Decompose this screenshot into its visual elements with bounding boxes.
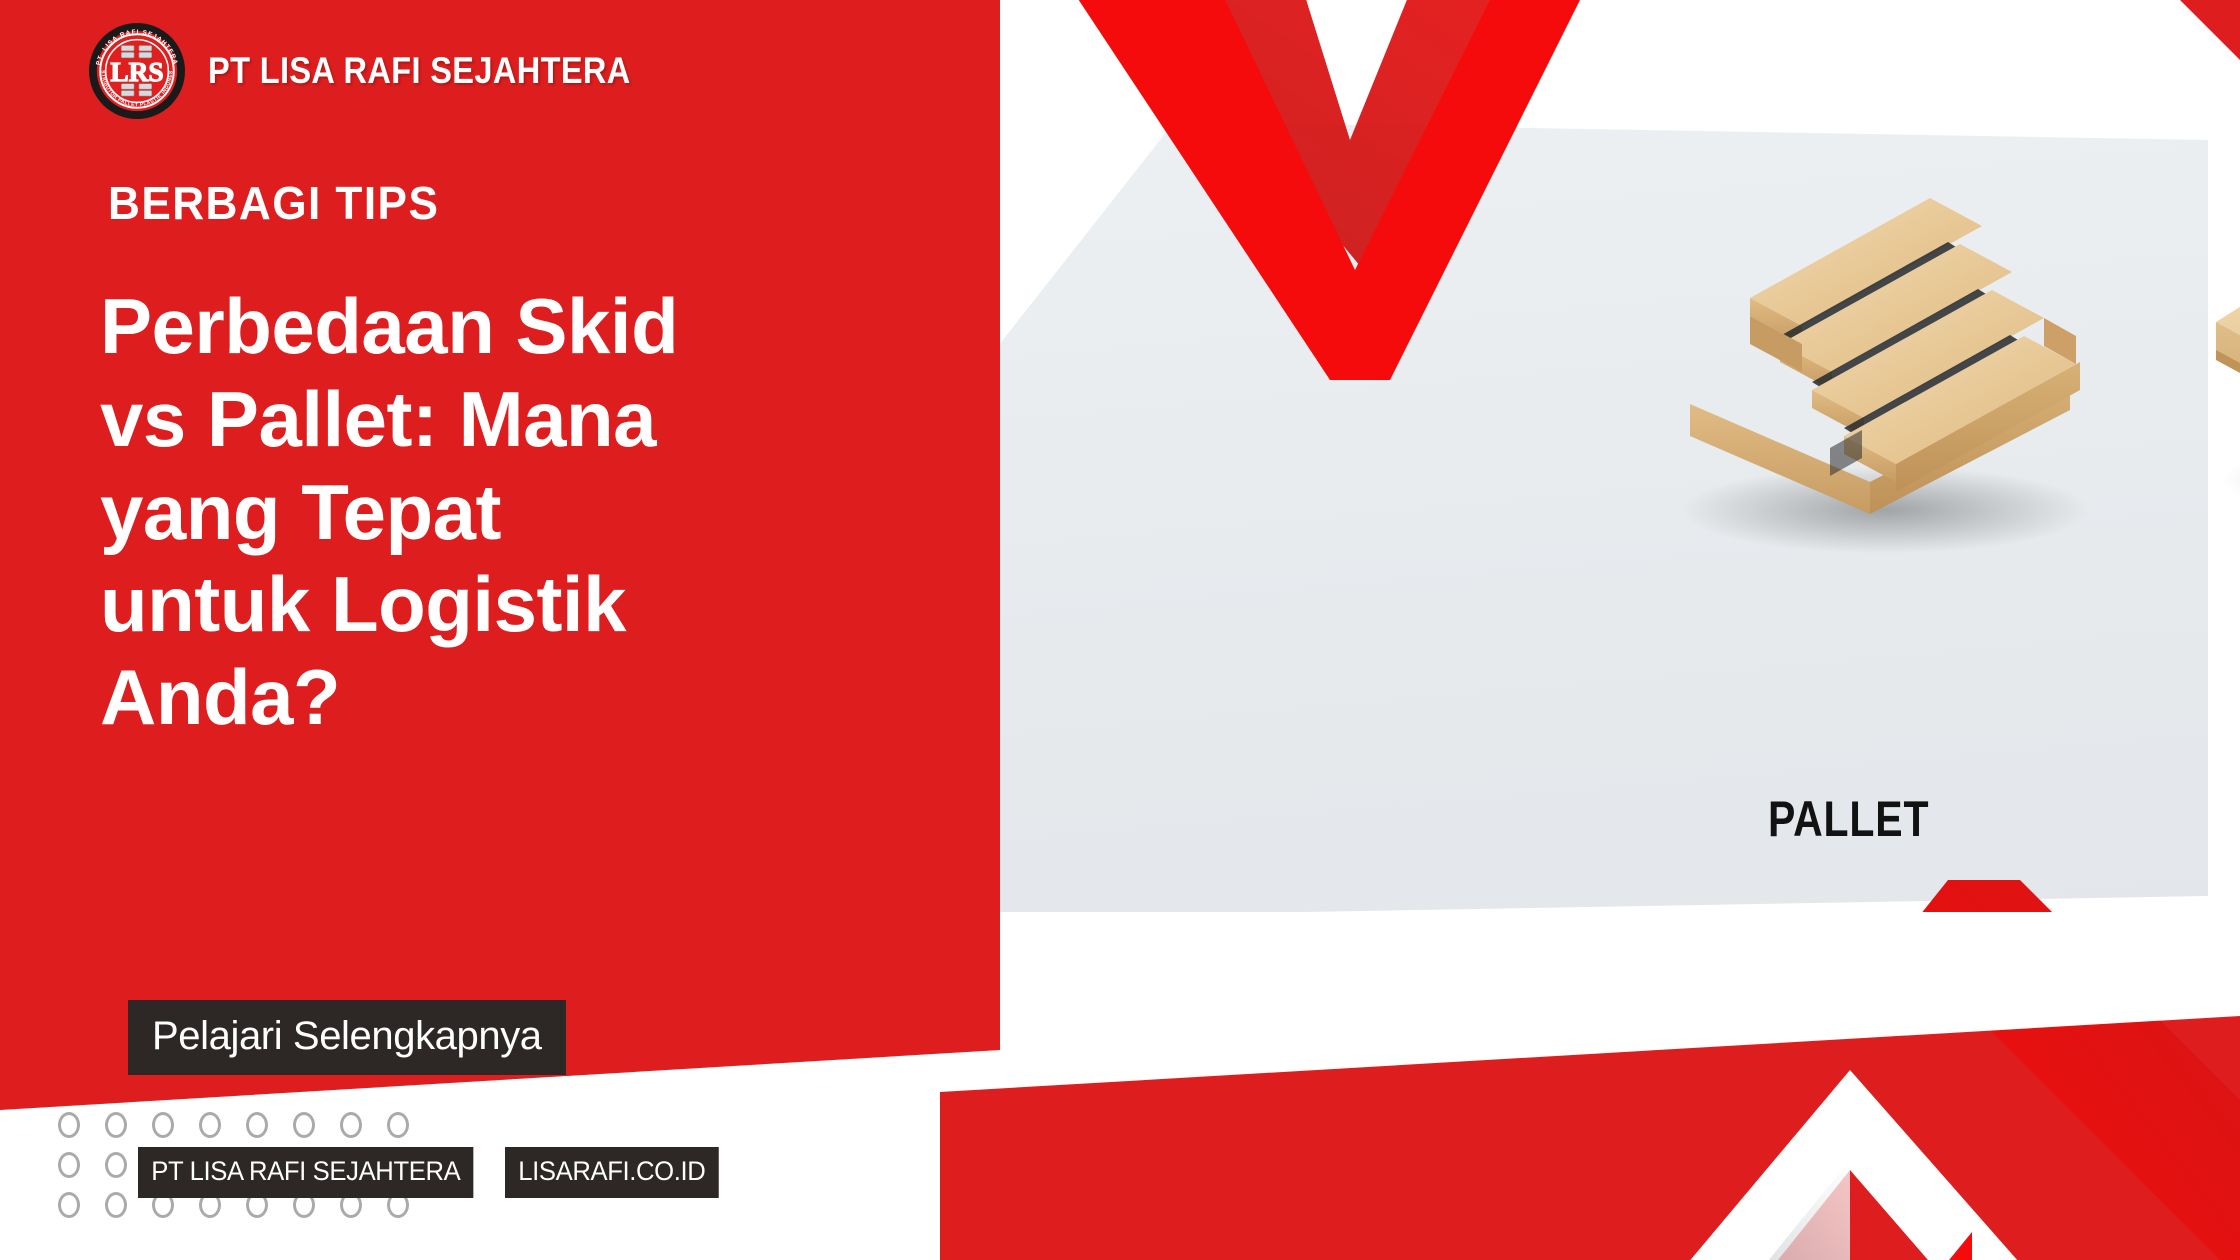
dot-icon — [246, 1112, 268, 1138]
footer-tags: PT LISA RAFI SEJAHTERA LISARAFI.CO.ID — [138, 1147, 730, 1198]
headline-line-5: Anda? — [100, 651, 840, 744]
chevron-down-decoration — [940, 0, 1700, 400]
pallet-illustration — [1630, 158, 2130, 578]
eyebrow-label: BERBAGI TIPS — [108, 176, 439, 230]
brand-name: PT LISA RAFI SEJAHTERA — [208, 50, 631, 92]
dot-icon — [152, 1112, 174, 1138]
dot-icon — [199, 1112, 221, 1138]
illustration-area: PALLET SKID — [940, 0, 2240, 1260]
dot-icon — [58, 1112, 80, 1138]
page-title: Perbedaan Skid vs Pallet: Mana yang Tepa… — [100, 280, 840, 744]
brand-lockup: LRS PT. LISA RAFI SEJAHTERA DISTRIBUTOR … — [88, 22, 688, 120]
label-pallet: PALLET — [1768, 790, 1929, 848]
company-logo-icon: LRS PT. LISA RAFI SEJAHTERA DISTRIBUTOR … — [88, 22, 186, 120]
svg-text:LRS: LRS — [110, 57, 163, 87]
dot-icon — [105, 1192, 127, 1218]
headline-line-2: vs Pallet: Mana — [100, 373, 840, 466]
dot-icon — [58, 1152, 80, 1178]
skid-illustration — [2180, 150, 2240, 550]
poster-canvas: PALLET SKID — [0, 0, 2240, 1260]
dot-icon — [340, 1112, 362, 1138]
headline-line-4: untuk Logistik — [100, 558, 840, 651]
dot-icon — [58, 1192, 80, 1218]
footer-website-tag[interactable]: LISARAFI.CO.ID — [505, 1147, 719, 1198]
footer-company-tag: PT LISA RAFI SEJAHTERA — [138, 1147, 474, 1198]
footer: PT LISA RAFI SEJAHTERA LISARAFI.CO.ID — [0, 1060, 1100, 1260]
headline-line-3: yang Tepat — [100, 466, 840, 559]
dot-icon — [105, 1152, 127, 1178]
dot-icon — [105, 1112, 127, 1138]
dot-icon — [293, 1112, 315, 1138]
headline-line-1: Perbedaan Skid — [100, 280, 840, 373]
left-red-panel: LRS PT. LISA RAFI SEJAHTERA DISTRIBUTOR … — [0, 0, 1000, 1135]
dot-icon — [387, 1112, 409, 1138]
